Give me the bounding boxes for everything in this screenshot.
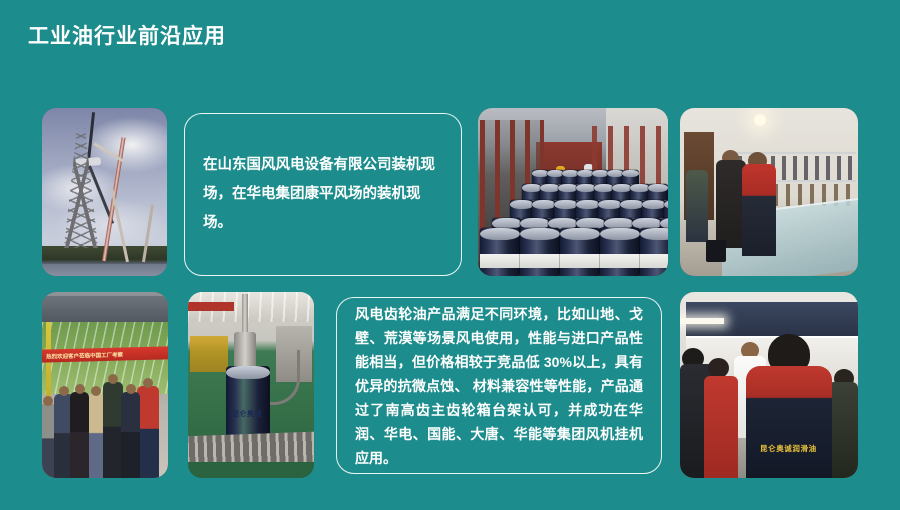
drum-label-band (600, 254, 640, 268)
water-strip (42, 264, 167, 276)
drum-label-band (480, 254, 520, 268)
drum-label-band (520, 254, 560, 268)
visitor-background (686, 170, 708, 242)
visitor-head-redcoat (708, 358, 729, 378)
oil-drum (520, 228, 560, 276)
group-photo-scene: 热烈欢迎客户莅临中国工厂考察 (42, 292, 168, 478)
lab-visit-scene: 昆仑奥诚润滑油 (680, 292, 858, 478)
visitor-red-coat (704, 376, 738, 478)
oil-drum (480, 228, 520, 276)
welcome-banner-text: 热烈欢迎客户莅临中国工厂考察 (46, 351, 123, 361)
oil-drum (640, 228, 668, 276)
photo-lab-visit[interactable]: 昆仑奥诚润滑油 (680, 292, 858, 478)
group-person (70, 392, 89, 478)
group-person-head (75, 384, 85, 394)
page-title: 工业油行业前沿应用 (28, 22, 226, 52)
oil-drum (560, 228, 600, 276)
group-person-head (108, 374, 118, 384)
visitor-right (828, 382, 858, 478)
photo-factory-group[interactable]: 热烈欢迎客户莅临中国工厂考察 (42, 292, 168, 478)
drum-lid (226, 366, 270, 379)
group-person (121, 392, 140, 478)
photo-oil-drums-loading[interactable] (478, 108, 668, 276)
group-person (137, 386, 159, 478)
callout-product-performance: 风电齿轮油产品满足不同环境，比如山地、戈壁、荒漠等场景风电使用，性能与进口产品性… (336, 297, 662, 474)
visitor-red-jacket (742, 164, 776, 256)
group-person-head (91, 386, 101, 396)
filling-line-scene: 昆仑奥诚 (188, 292, 314, 478)
oil-drums-scene (478, 108, 668, 276)
ceiling-lamp (754, 114, 766, 126)
showroom-scene (680, 108, 858, 276)
floor-strip (188, 462, 314, 478)
group-person-head (143, 378, 153, 388)
jacket-brand-text: 昆仑奥诚润滑油 (760, 443, 817, 454)
equipment-left (190, 336, 228, 372)
drum-label-band (560, 254, 600, 268)
briefcase (706, 240, 726, 262)
photo-product-showroom[interactable] (680, 108, 858, 276)
callout-install-sites: 在山东国风风电设备有限公司装机现场，在华电集团康平风场的装机现场。 (184, 113, 462, 276)
drum-label-band (640, 254, 668, 268)
group-person-head (126, 384, 136, 394)
oil-drum (600, 228, 640, 276)
callout-product-performance-text: 风电齿轮油产品满足不同环境，比如山地、戈壁、荒漠等场景风电使用，性能与进口产品性… (337, 302, 661, 470)
photo-wind-turbine-erection[interactable] (42, 108, 167, 276)
group-person (103, 382, 123, 478)
drum-brand-label: 昆仑奥诚 (232, 409, 262, 419)
staff-branded-jacket: 昆仑奥诚润滑油 (746, 366, 832, 478)
wall-banner (188, 302, 234, 311)
group-people (42, 374, 168, 478)
drum-stack (478, 170, 668, 266)
callout-install-sites-text: 在山东国风风电设备有限公司装机现场，在华电集团康平风场的装机现场。 (185, 151, 461, 238)
wind-turbine-scene (42, 108, 167, 276)
group-person-head (43, 396, 53, 406)
fluorescent-tube (680, 318, 724, 324)
photo-drum-filling-line[interactable]: 昆仑奥诚 (188, 292, 314, 478)
group-person-head (59, 386, 69, 396)
